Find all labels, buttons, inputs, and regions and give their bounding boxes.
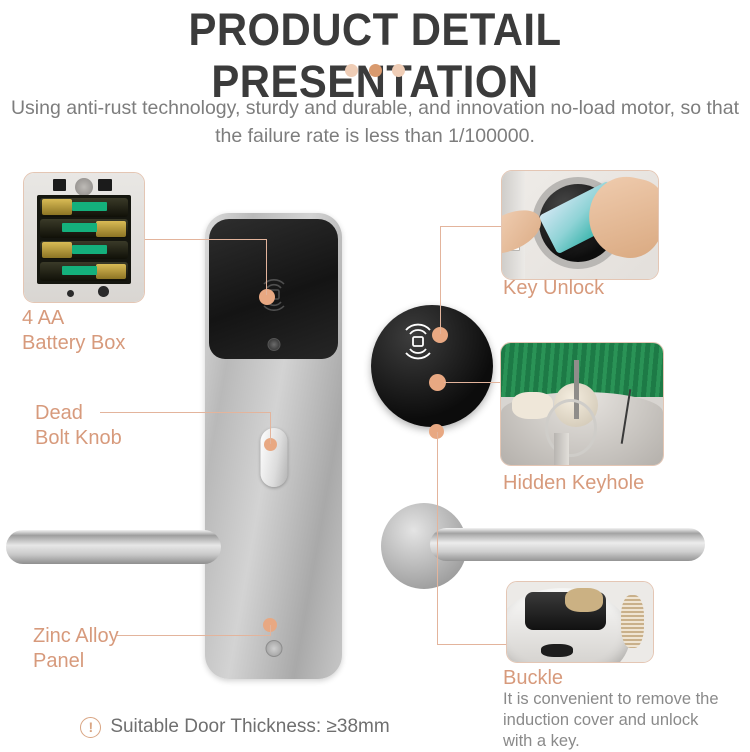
callout-label-buckle: Buckle (503, 666, 563, 691)
callout-label-zinc-alloy-panel: Zinc Alloy Panel (33, 624, 119, 674)
callout-description-buckle: It is convenient to remove the induction… (503, 689, 748, 752)
battery-cell (40, 219, 128, 238)
battery-compartment-photo (23, 172, 145, 303)
leader-line-panel-v (270, 625, 271, 636)
decorative-dots (0, 62, 750, 80)
leader-line-battery-h (140, 239, 267, 240)
key-ring (545, 399, 597, 457)
battery-cell (40, 241, 128, 260)
card-swipe-photo (501, 170, 659, 280)
callout-label-battery-box: 4 AA Battery Box (22, 306, 125, 356)
leader-line-buckle-h (437, 644, 507, 645)
key-unlock-scene (502, 171, 658, 279)
footer-note-text: Suitable Door Thickness: ≥38mm (110, 716, 389, 738)
battery-cell (40, 262, 128, 281)
callout-label-dead-bolt-knob: Dead Bolt Knob (35, 401, 122, 451)
leader-line-panel-h (117, 635, 270, 636)
battery-cells (37, 195, 131, 284)
callout-label-key-unlock: Key Unlock (503, 276, 604, 301)
dot-3 (392, 64, 405, 77)
coil-wire (621, 595, 644, 648)
leader-line-buckle-v (437, 432, 438, 644)
leader-line-keyunlock-v (440, 226, 441, 334)
footer-note: ! Suitable Door Thickness: ≥38mm (0, 716, 470, 738)
exclamation-circle-icon: ! (80, 717, 101, 738)
buckle-nub (541, 644, 573, 657)
dot-1 (345, 64, 358, 77)
left-lever-handle[interactable] (6, 530, 221, 564)
battery-box-screw (75, 178, 93, 196)
battery-tab-right (98, 179, 111, 191)
page-title: PRODUCT DETAIL PRESENTATION (26, 4, 724, 108)
callout-label-hidden-keyhole: Hidden Keyhole (503, 471, 644, 496)
leader-line-battery-v (266, 239, 267, 295)
product-detail-presentation: PRODUCT DETAIL PRESENTATION Using anti-r… (0, 0, 750, 750)
rfid-induction-cover (371, 305, 493, 427)
connector-dot-battery (259, 289, 275, 305)
battery-box-shell (24, 173, 144, 302)
buckle-mechanism-photo (506, 581, 654, 663)
brass-component (565, 588, 603, 612)
leader-line-knob-h (100, 412, 270, 413)
battery-box-hole-large (98, 286, 109, 297)
panel-bottom-screw (265, 640, 282, 657)
metal-key (554, 433, 569, 465)
leader-line-keyhole-h (444, 382, 500, 383)
dot-2 (369, 64, 382, 77)
panel-screw (267, 338, 280, 351)
lock-touch-surface (209, 219, 338, 359)
leader-line-knob-v (270, 412, 271, 444)
nfc-wave-icon (401, 321, 435, 361)
dead-bolt-knob[interactable] (260, 428, 287, 487)
leader-line-keyunlock-h (440, 226, 502, 227)
keyhole-mechanism-photo (500, 342, 664, 466)
keyhole-scene (501, 343, 663, 465)
buckle-scene (507, 582, 653, 662)
page-subtitle: Using anti-rust technology, sturdy and d… (0, 94, 750, 150)
battery-cell (40, 198, 128, 217)
right-lever-handle[interactable] (430, 528, 705, 561)
battery-box-hole-small (67, 290, 74, 297)
battery-tab-left (53, 179, 66, 191)
